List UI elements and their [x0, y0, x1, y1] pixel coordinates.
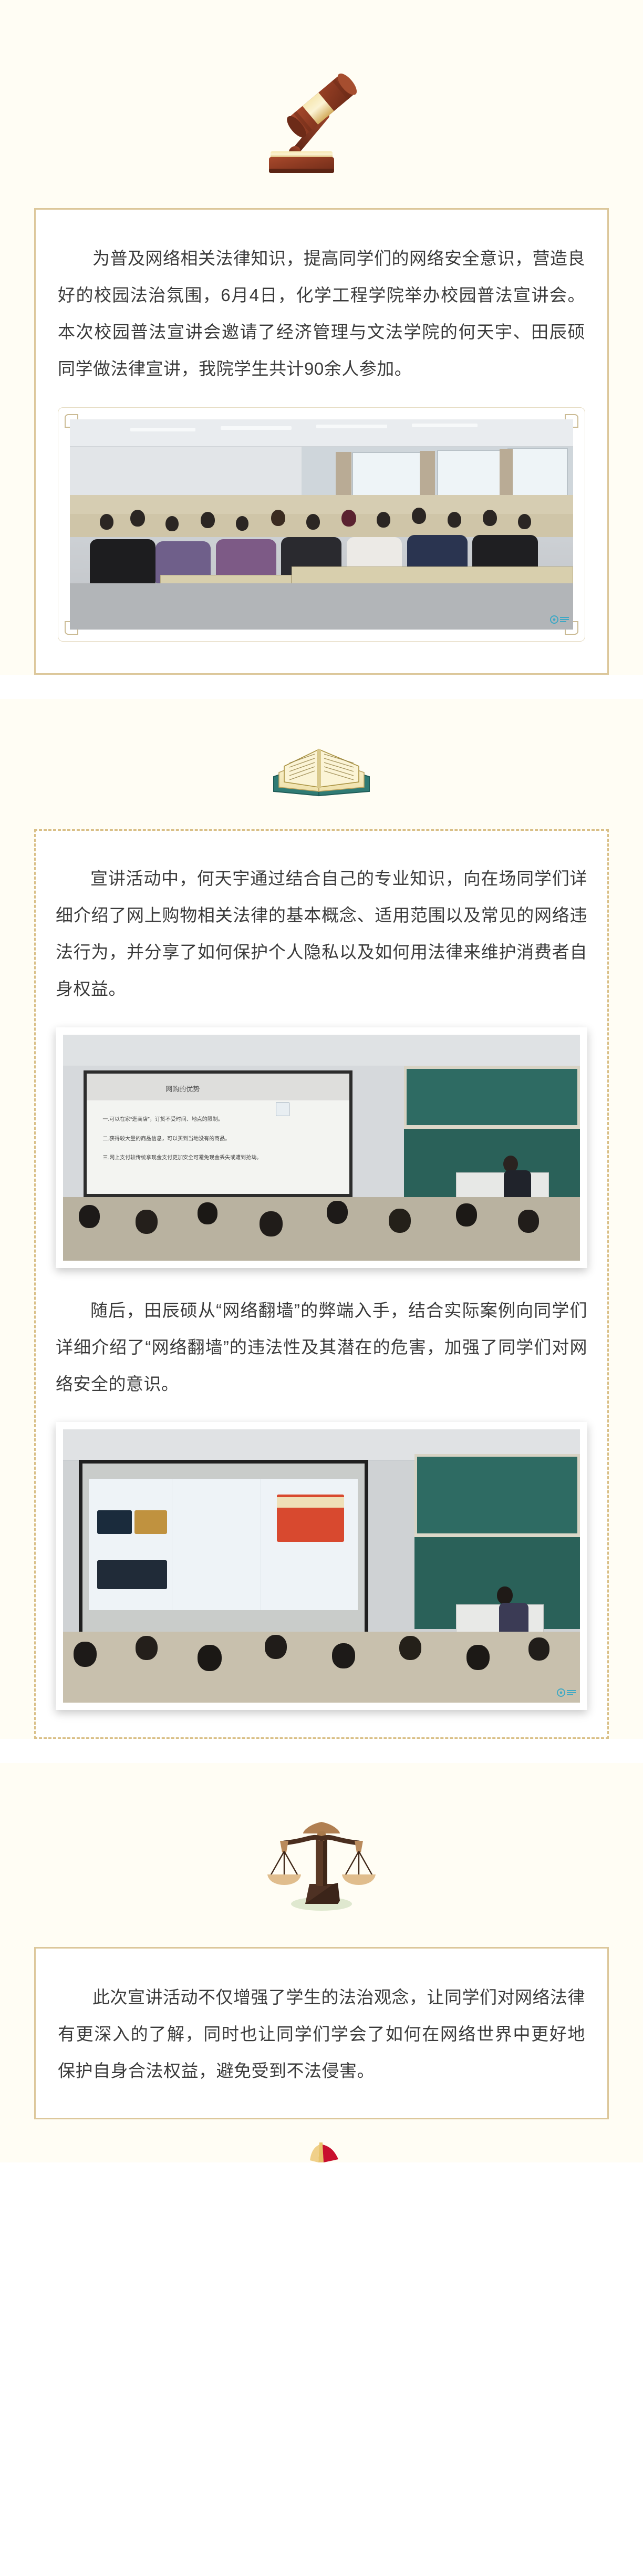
scales-of-justice-icon [266, 1808, 377, 1913]
article-page: 为普及网络相关法律知识，提高同学们的网络安全意识，营造良好的校园法治氛围，6月4… [0, 0, 643, 2576]
section-2-paragraph-2: 随后，田辰硕从“网络翻墙”的弊端入手，结合实际案例向同学们详细介绍了“网络翻墙”… [56, 1292, 587, 1403]
section-3-paragraph-1: 此次宣讲活动不仅增强了学生的法治观念，让同学们对网络法律有更深入的了解，同时也让… [58, 1979, 585, 2089]
gavel-icon-block [34, 0, 609, 208]
gavel-icon [256, 62, 387, 178]
slide-line-2: 二.获得较大量的商品信息，可以买到当地没有的商品。 [102, 1134, 230, 1142]
section-1: 为普及网络相关法律知识，提高同学们的网络安全意识，营造良好的校园法治氛围，6月4… [0, 0, 643, 675]
photo-slide-social-media [63, 1429, 580, 1703]
photo-slide-online-shopping: 网购的优势 一.可以在家“逛商店”，订货不受时间、地点的限制。 二.获得较大量的… [63, 1035, 580, 1261]
section-3-frame: 此次宣讲活动不仅增强了学生的法治观念，让同学们对网络法律有更深入的了解，同时也让… [34, 1947, 609, 2119]
section-4-footer [0, 2119, 643, 2162]
section-1-frame: 为普及网络相关法律知识，提高同学们的网络安全意识，营造良好的校园法治氛围，6月4… [34, 208, 609, 675]
watermark-logo [549, 613, 570, 626]
scales-icon-block [34, 1763, 609, 1947]
slide-line-3: 三.网上支付较传统拿现金支付更加安全可避免现金丢失或遭到抢劫。 [102, 1153, 334, 1161]
ribbon-banner-icon [290, 2139, 353, 2162]
section-2-paragraph-1: 宣讲活动中，何天宇通过结合自己的专业知识，向在场同学们详细介绍了网上购物相关法律… [56, 860, 587, 1007]
section-2: 宣讲活动中，何天宇通过结合自己的专业知识，向在场同学们详细介绍了网上购物相关法律… [0, 699, 643, 1739]
section-3: 此次宣讲活动不仅增强了学生的法治观念，让同学们对网络法律有更深入的了解，同时也让… [0, 1763, 643, 2119]
section-divider-2 [0, 1739, 643, 1763]
slide-title: 网购的优势 [165, 1084, 200, 1094]
section-1-paragraph-1: 为普及网络相关法律知识，提高同学们的网络安全意识，营造良好的校园法治氛围，6月4… [58, 240, 585, 387]
watermark-logo [556, 1686, 577, 1699]
open-book-icon [266, 726, 377, 805]
section-divider-1 [0, 675, 643, 699]
photo-slide-online-shopping-card: 网购的优势 一.可以在家“逛商店”，订货不受时间、地点的限制。 二.获得较大量的… [56, 1027, 587, 1268]
photo-slide-social-media-card [56, 1422, 587, 1710]
section-2-frame: 宣讲活动中，何天宇通过结合自己的专业知识，向在场同学们详细介绍了网上购物相关法律… [34, 829, 609, 1739]
photo-lecture-hall-card [58, 407, 585, 642]
slide-line-1: 一.可以在家“逛商店”，订货不受时间、地点的限制。 [102, 1115, 223, 1122]
open-book-icon-block [34, 699, 609, 829]
photo-lecture-hall [70, 419, 573, 630]
